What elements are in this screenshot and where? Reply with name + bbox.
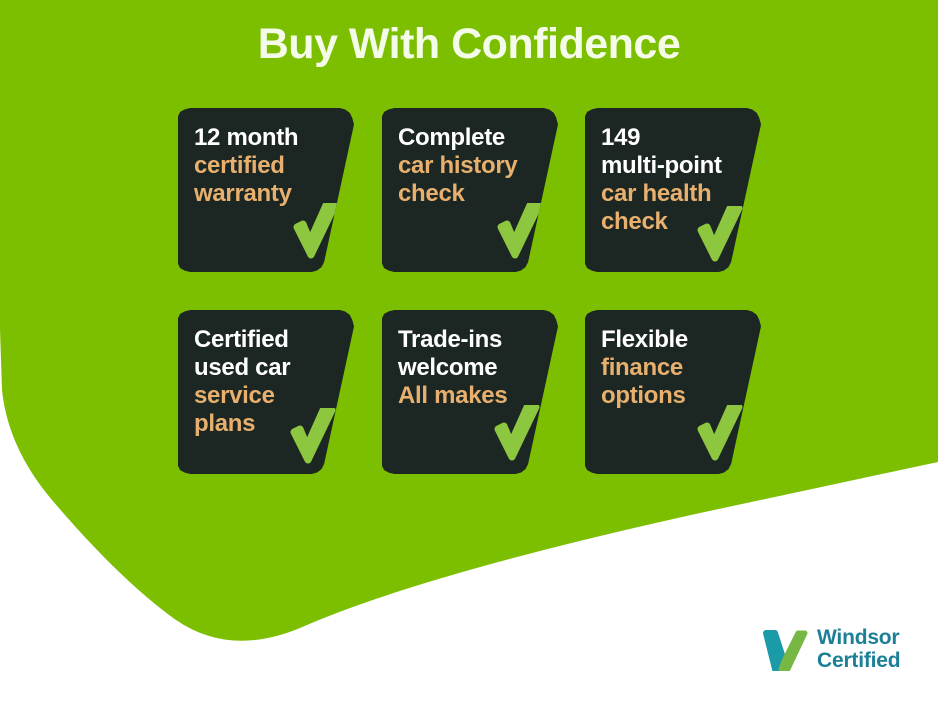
card-line: 149	[601, 124, 747, 152]
card-text: Trade-ins welcome All makes	[398, 326, 544, 410]
feature-card-service-plans[interactable]: Certified used car service plans	[178, 310, 354, 474]
page-title: Buy With Confidence	[0, 20, 938, 69]
card-line: welcome	[398, 354, 544, 382]
slide-canvas: Buy With Confidence 12 month certified w…	[0, 0, 938, 704]
check-icon	[293, 203, 339, 263]
card-line: Certified	[194, 326, 340, 354]
card-line: certified	[194, 152, 340, 180]
card-line: multi-point	[601, 152, 747, 180]
card-line: All makes	[398, 382, 544, 410]
card-line: car history	[398, 152, 544, 180]
feature-card-car-history-check[interactable]: Complete car history check	[382, 108, 558, 272]
card-line: 12 month	[194, 124, 340, 152]
check-icon	[697, 405, 743, 465]
feature-card-certified-warranty[interactable]: 12 month certified warranty	[178, 108, 354, 272]
card-text: Complete car history check	[398, 124, 544, 208]
card-text: Flexible finance options	[601, 326, 747, 410]
windsor-certified-logo[interactable]: Windsor Certified	[762, 627, 900, 672]
card-text: 149 multi-point car health check	[601, 124, 747, 236]
card-line: finance	[601, 354, 747, 382]
card-line: Flexible	[601, 326, 747, 354]
card-text: 12 month certified warranty	[194, 124, 340, 208]
card-line: used car	[194, 354, 340, 382]
card-line: Trade-ins	[398, 326, 544, 354]
feature-card-multi-point-check[interactable]: 149 multi-point car health check	[585, 108, 761, 272]
card-line: check	[601, 208, 747, 236]
windsor-w-icon	[762, 629, 808, 671]
card-line: options	[601, 382, 747, 410]
feature-card-trade-ins[interactable]: Trade-ins welcome All makes	[382, 310, 558, 474]
card-line: service	[194, 382, 340, 410]
logo-line-certified: Certified	[817, 650, 900, 673]
check-icon	[494, 405, 540, 465]
check-icon	[497, 203, 543, 263]
feature-card-flexible-finance[interactable]: Flexible finance options	[585, 310, 761, 474]
card-line: warranty	[194, 180, 340, 208]
card-line: Complete	[398, 124, 544, 152]
card-text: Certified used car service plans	[194, 326, 340, 438]
logo-wordmark: Windsor Certified	[817, 627, 900, 672]
card-line: plans	[194, 410, 340, 438]
logo-line-windsor: Windsor	[817, 627, 900, 650]
card-line: car health	[601, 180, 747, 208]
card-line: check	[398, 180, 544, 208]
